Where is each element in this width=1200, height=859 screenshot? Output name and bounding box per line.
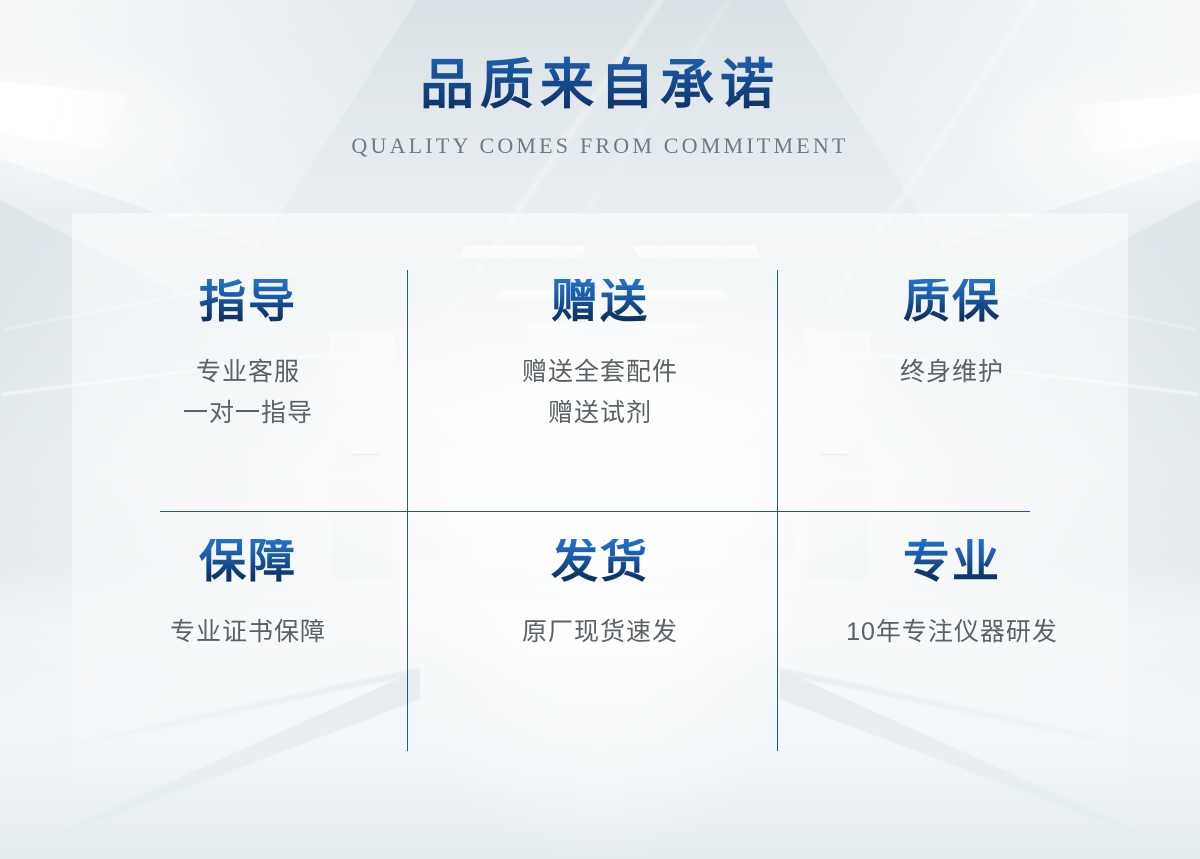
quality-commitment-banner: 品质来自承诺 QUALITY COMES FROM COMMITMENT 指导 …	[0, 0, 1200, 859]
feature-description-line: 赠送全套配件	[522, 352, 678, 393]
feature-description: 10年专注仪器研发	[846, 612, 1058, 653]
feature-cell-guidance: 指导 专业客服 一对一指导	[72, 213, 424, 483]
feature-description-line: 专业证书保障	[170, 612, 326, 653]
feature-description-line: 一对一指导	[183, 393, 313, 434]
feature-description: 专业客服 一对一指导	[183, 352, 313, 433]
feature-description-line: 赠送试剂	[522, 393, 678, 434]
feature-grid: 指导 专业客服 一对一指导 赠送 赠送全套配件 赠送试剂 质保 终身维护 保障 …	[72, 213, 1128, 753]
title-block: 品质来自承诺 QUALITY COMES FROM COMMITMENT	[0, 56, 1200, 159]
page-title: 品质来自承诺	[0, 56, 1200, 115]
feature-title: 质保	[903, 279, 1001, 326]
feature-cell-expertise: 专业 10年专注仪器研发	[776, 483, 1128, 753]
feature-title: 指导	[199, 279, 297, 326]
page-subtitle: QUALITY COMES FROM COMMITMENT	[0, 133, 1200, 159]
feature-cell-shipping: 发货 原厂现货速发	[424, 483, 776, 753]
feature-cell-assurance: 保障 专业证书保障	[72, 483, 424, 753]
feature-description-line: 专业客服	[183, 352, 313, 393]
feature-description-line: 终身维护	[900, 352, 1004, 393]
feature-description: 原厂现货速发	[522, 612, 678, 653]
feature-title: 赠送	[551, 279, 649, 326]
feature-cell-warranty: 质保 终身维护	[776, 213, 1128, 483]
feature-description: 专业证书保障	[170, 612, 326, 653]
feature-title: 发货	[551, 539, 649, 586]
feature-title: 专业	[903, 539, 1001, 586]
feature-cell-gift: 赠送 赠送全套配件 赠送试剂	[424, 213, 776, 483]
feature-description: 终身维护	[900, 352, 1004, 393]
divider-horizontal	[160, 511, 1030, 512]
feature-description-line: 原厂现货速发	[522, 612, 678, 653]
feature-description: 赠送全套配件 赠送试剂	[522, 352, 678, 433]
feature-description-line: 10年专注仪器研发	[846, 612, 1058, 653]
feature-title: 保障	[199, 539, 297, 586]
